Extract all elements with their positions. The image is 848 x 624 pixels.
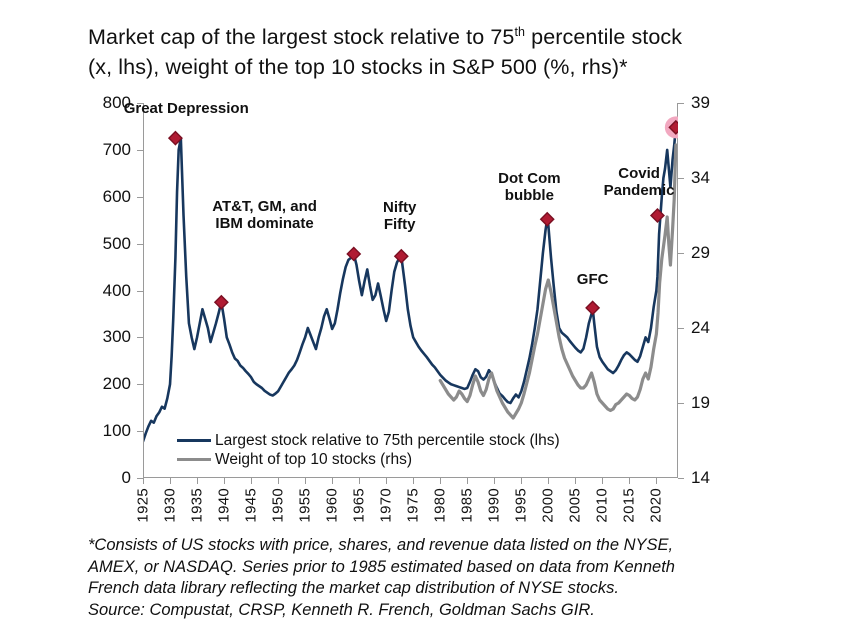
chart-figure: Market cap of the largest stock relative…: [0, 0, 848, 624]
footnote-line-2: AMEX, or NASDAQ. Series prior to 1985 es…: [88, 557, 828, 579]
chart-legend: Largest stock relative to 75th percentil…: [177, 431, 560, 469]
legend-swatch-largest-stock: [177, 439, 211, 443]
x-tick-label: 2010: [594, 488, 611, 523]
x-tick-mark: [602, 478, 603, 484]
y-tick-mark: [137, 150, 143, 151]
x-tick-label: 1945: [243, 488, 260, 523]
y-tick-label-left: 500: [103, 234, 131, 254]
y2-tick-mark: [678, 103, 684, 104]
x-tick-mark: [305, 478, 306, 484]
chart-annotation: Dot Combubble: [498, 170, 561, 204]
y2-tick-mark: [678, 478, 684, 479]
y-tick-label-right: 34: [691, 168, 710, 188]
x-tick-mark: [278, 478, 279, 484]
footnote-line-4: Source: Compustat, CRSP, Kenneth R. Fren…: [88, 600, 828, 622]
x-tick-mark: [629, 478, 630, 484]
chart-annotation: Great Depression: [124, 100, 249, 117]
x-tick-mark: [575, 478, 576, 484]
x-tick-label: 1980: [432, 488, 449, 523]
chart-title-superscript: th: [514, 25, 525, 39]
y-tick-label-right: 24: [691, 318, 710, 338]
y-tick-label-left: 200: [103, 374, 131, 394]
chart-annotation: NiftyFifty: [383, 199, 416, 233]
x-tick-label: 2000: [540, 488, 557, 523]
x-tick-mark: [170, 478, 171, 484]
y2-tick-mark: [678, 403, 684, 404]
footnote-line-3: French data library reflecting the marke…: [88, 578, 828, 600]
x-tick-label: 1935: [189, 488, 206, 523]
y-tick-label-left: 700: [103, 140, 131, 160]
x-tick-label: 1960: [324, 488, 341, 523]
chart-title: Market cap of the largest stock relative…: [88, 22, 833, 82]
x-tick-mark: [494, 478, 495, 484]
peak-marker-diamond: [395, 250, 408, 263]
y-tick-label-left: 600: [103, 187, 131, 207]
x-tick-label: 1950: [270, 488, 287, 523]
y-tick-mark: [137, 431, 143, 432]
x-tick-label: 1995: [513, 488, 530, 523]
chart-title-line1-b: percentile stock: [525, 25, 682, 49]
chart-title-line2: (x, lhs), weight of the top 10 stocks in…: [88, 55, 628, 79]
y-tick-mark: [137, 384, 143, 385]
legend-item: Weight of top 10 stocks (rhs): [177, 450, 560, 469]
x-tick-mark: [467, 478, 468, 484]
x-tick-mark: [332, 478, 333, 484]
x-tick-label: 1940: [216, 488, 233, 523]
x-tick-mark: [197, 478, 198, 484]
x-tick-mark: [359, 478, 360, 484]
y-tick-label-left: 100: [103, 421, 131, 441]
peak-marker-diamond: [651, 209, 664, 222]
x-tick-label: 1925: [135, 488, 152, 523]
y-tick-label-left: 400: [103, 281, 131, 301]
y-tick-mark: [137, 244, 143, 245]
peak-marker-diamond: [541, 213, 554, 226]
x-tick-label: 2015: [621, 488, 638, 523]
y-tick-label-right: 14: [691, 468, 710, 488]
y-tick-label-right: 29: [691, 243, 710, 263]
y2-tick-mark: [678, 328, 684, 329]
chart-annotation: AT&T, GM, andIBM dominate: [212, 198, 317, 232]
y-tick-label-right: 39: [691, 93, 710, 113]
x-tick-mark: [143, 478, 144, 484]
chart-title-line1-a: Market cap of the largest stock relative…: [88, 25, 514, 49]
y-tick-mark: [137, 291, 143, 292]
y-tick-label-right: 19: [691, 393, 710, 413]
y-tick-label-left: 300: [103, 327, 131, 347]
legend-label-top10-weight: Weight of top 10 stocks (rhs): [215, 451, 412, 469]
legend-item: Largest stock relative to 75th percentil…: [177, 431, 560, 450]
peak-markers: [143, 103, 678, 478]
chart-annotation: GFC: [577, 271, 609, 288]
x-tick-mark: [224, 478, 225, 484]
x-tick-label: 1975: [405, 488, 422, 523]
legend-swatch-top10-weight: [177, 458, 211, 462]
x-tick-mark: [656, 478, 657, 484]
x-tick-mark: [251, 478, 252, 484]
x-tick-mark: [548, 478, 549, 484]
chart-annotation: CovidPandemic: [604, 165, 675, 199]
x-tick-mark: [413, 478, 414, 484]
x-tick-mark: [386, 478, 387, 484]
peak-marker-diamond: [215, 296, 228, 309]
y-tick-mark: [137, 337, 143, 338]
y2-tick-mark: [678, 178, 684, 179]
footnote-line-1: *Consists of US stocks with price, share…: [88, 535, 828, 557]
y2-tick-mark: [678, 253, 684, 254]
x-tick-label: 1970: [378, 488, 395, 523]
x-tick-label: 1955: [297, 488, 314, 523]
y-tick-mark: [137, 197, 143, 198]
x-tick-label: 1990: [486, 488, 503, 523]
peak-marker-diamond: [169, 132, 182, 145]
peak-marker-diamond: [347, 247, 360, 260]
x-tick-label: 2005: [567, 488, 584, 523]
x-tick-label: 1985: [459, 488, 476, 523]
x-tick-label: 2020: [648, 488, 665, 523]
chart-footnote: *Consists of US stocks with price, share…: [88, 535, 828, 621]
peak-marker-diamond: [586, 301, 599, 314]
plot-area: 0100200300400500600700800 141924293439 1…: [143, 103, 678, 478]
legend-label-largest-stock: Largest stock relative to 75th percentil…: [215, 432, 560, 450]
x-tick-mark: [521, 478, 522, 484]
y-tick-label-left: 0: [122, 468, 131, 488]
x-tick-mark: [440, 478, 441, 484]
x-tick-label: 1965: [351, 488, 368, 523]
x-tick-label: 1930: [162, 488, 179, 523]
